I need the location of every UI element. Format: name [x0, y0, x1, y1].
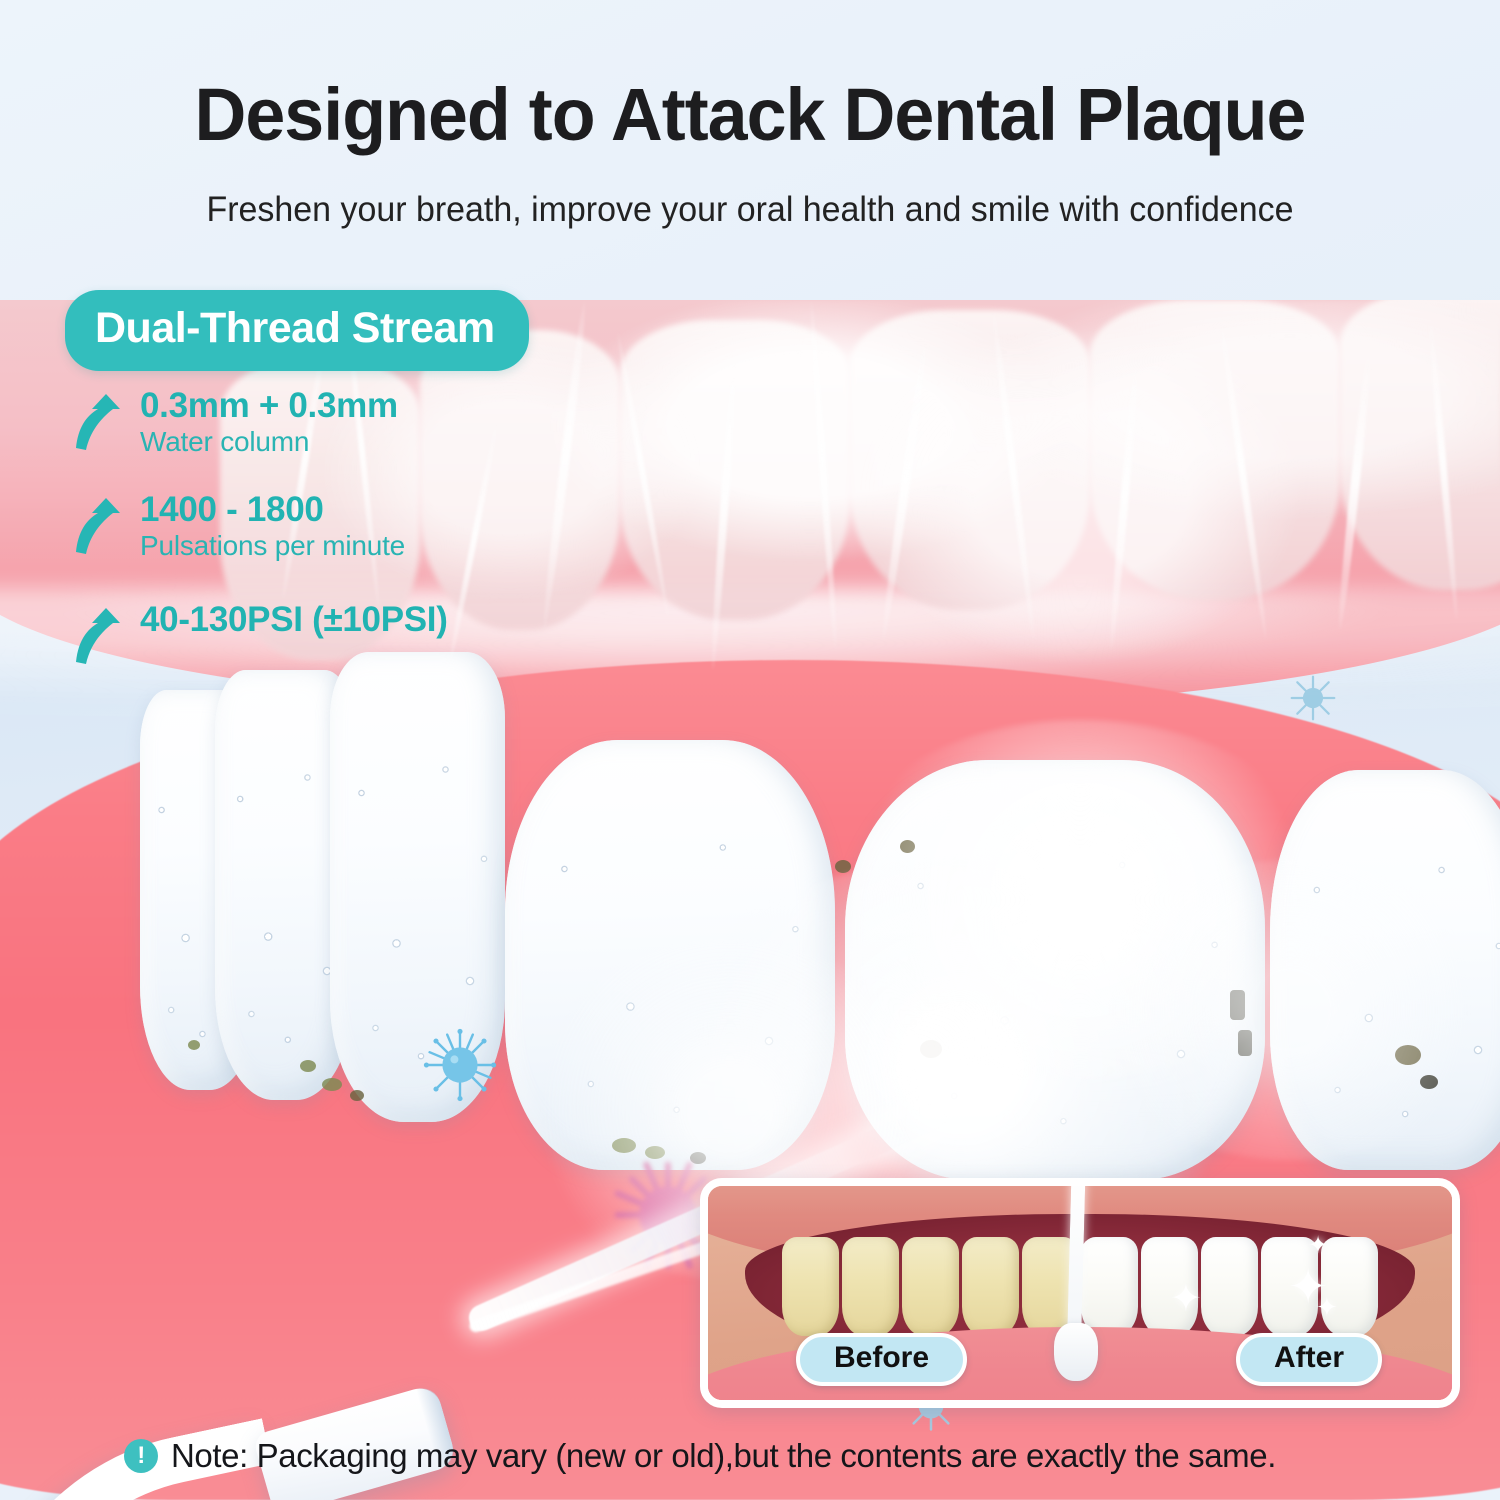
upper-tooth: [850, 310, 1090, 610]
germ-blue-gum-right: [1285, 670, 1341, 726]
packaging-note: ! Note: Packaging may vary (new or old),…: [124, 1437, 1276, 1475]
after-label: After: [1236, 1333, 1382, 1386]
plaque-speck: [322, 1078, 342, 1091]
spec-caption: Water column: [140, 426, 630, 458]
tooth-before: [962, 1237, 1019, 1335]
plaque-speck: [300, 1060, 316, 1072]
spec-value: 0.3mm + 0.3mm: [140, 388, 630, 425]
packaging-note-text: Note: Packaging may vary (new or old),bu…: [171, 1437, 1276, 1475]
up-arrow-icon: [72, 604, 128, 666]
tooth-before: [842, 1237, 899, 1335]
up-arrow-icon: [72, 494, 128, 556]
upper-tooth: [620, 320, 850, 620]
before-after-inset: ✦ ✦ ✦ ✦ Before After: [700, 1178, 1460, 1408]
spec-item-water-column: 0.3mm + 0.3mm Water column: [70, 388, 630, 458]
tooth-before: [902, 1237, 959, 1335]
inset-nozzle-tip: [1054, 1323, 1098, 1381]
exclamation-circle-icon: !: [124, 1439, 158, 1473]
up-arrow-icon: [72, 390, 128, 452]
before-label: Before: [796, 1333, 967, 1386]
page-title: Designed to Attack Dental Plaque: [23, 72, 1478, 157]
sparkle-icon: ✦: [1316, 1294, 1338, 1320]
spec-value: 1400 - 1800: [140, 492, 630, 529]
upper-tooth: [1340, 300, 1500, 590]
spec-list: 0.3mm + 0.3mm Water column 1400 - 1800 P…: [70, 388, 630, 663]
germ-blue-upper-left: [420, 1025, 500, 1105]
tooth-after: [1081, 1237, 1138, 1335]
page-subtitle: Freshen your breath, improve your oral h…: [23, 190, 1478, 230]
water-splash-burst: [1080, 860, 1500, 1160]
spec-value: 40-130PSI (±10PSI): [140, 602, 630, 639]
tooth-before: [782, 1237, 839, 1335]
upper-tooth: [1090, 300, 1340, 600]
plaque-speck: [350, 1090, 364, 1101]
feature-badge: Dual-Thread Stream: [65, 290, 529, 371]
plaque-speck: [188, 1040, 200, 1050]
spec-item-pressure: 40-130PSI (±10PSI): [70, 602, 630, 639]
sparkle-icon: ✦: [1308, 1234, 1328, 1258]
spec-caption: Pulsations per minute: [140, 530, 630, 562]
tooth-after: [1201, 1237, 1258, 1335]
infographic-page: Designed to Attack Dental Plaque Freshen…: [0, 0, 1500, 1500]
sparkle-icon: ✦: [1170, 1280, 1202, 1318]
spec-item-pulsations: 1400 - 1800 Pulsations per minute: [70, 492, 630, 562]
